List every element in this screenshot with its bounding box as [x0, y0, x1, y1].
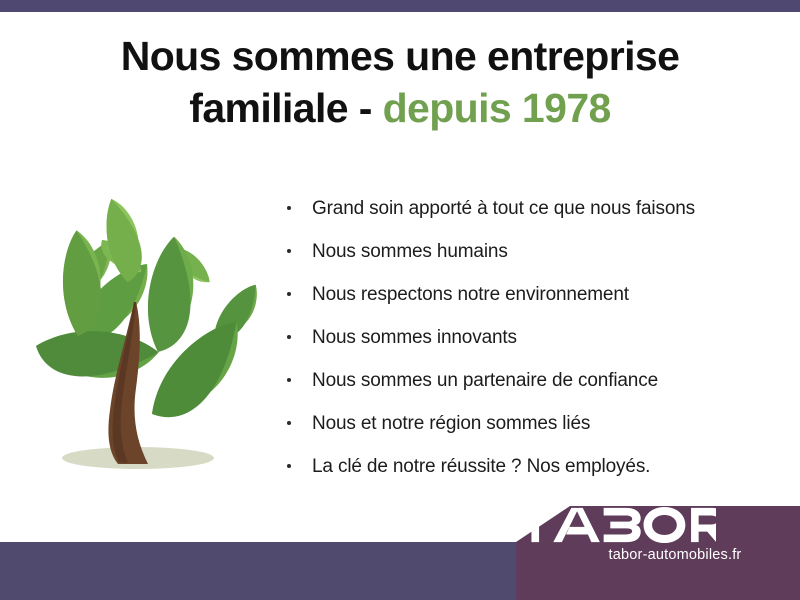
list-item-label: La clé de notre réussite ? Nos employés. [312, 456, 650, 477]
list-item: Nous sommes humains [284, 235, 764, 278]
page-title: Nous sommes une entreprise familiale - d… [0, 30, 800, 135]
slide-canvas: Nous sommes une entreprise familiale - d… [0, 0, 800, 600]
bullet-dot-icon [287, 421, 291, 425]
list-item-label: Grand soin apporté à tout ce que nous fa… [312, 198, 695, 219]
logo-website-url[interactable]: tabor-automobiles.fr [609, 547, 742, 563]
bullet-dot-icon [287, 378, 291, 382]
page-title-line2: familiale - depuis 1978 [0, 82, 800, 134]
list-item-label: Nous sommes innovants [312, 327, 517, 348]
top-brand-band [0, 0, 800, 12]
bullet-dot-icon [287, 206, 291, 210]
list-item-label: Nous sommes un partenaire de confiance [312, 370, 658, 391]
tree-illustration [18, 186, 276, 492]
logo-wordmark [516, 506, 716, 544]
list-item: Nous et notre région sommes liés [284, 407, 764, 450]
bullet-dot-icon [287, 335, 291, 339]
list-item: Nous sommes un partenaire de confiance [284, 364, 764, 407]
list-item-label: Nous et notre région sommes liés [312, 413, 590, 434]
list-item: Grand soin apporté à tout ce que nous fa… [284, 192, 764, 235]
list-item-label: Nous sommes humains [312, 241, 508, 262]
list-item-label: Nous respectons notre environnement [312, 284, 629, 305]
page-title-line2-black: familiale - [189, 85, 372, 131]
list-item: Nous sommes innovants [284, 321, 764, 364]
list-item: La clé de notre réussite ? Nos employés. [284, 450, 764, 493]
value-bullet-list: Grand soin apporté à tout ce que nous fa… [284, 192, 764, 493]
bullet-dot-icon [287, 464, 291, 468]
bullet-dot-icon [287, 292, 291, 296]
brand-logo[interactable]: tabor-automobiles.fr [516, 506, 800, 600]
page-title-accent: depuis 1978 [383, 85, 611, 131]
page-title-line1: Nous sommes une entreprise [121, 33, 680, 79]
bullet-dot-icon [287, 249, 291, 253]
list-item: Nous respectons notre environnement [284, 278, 764, 321]
